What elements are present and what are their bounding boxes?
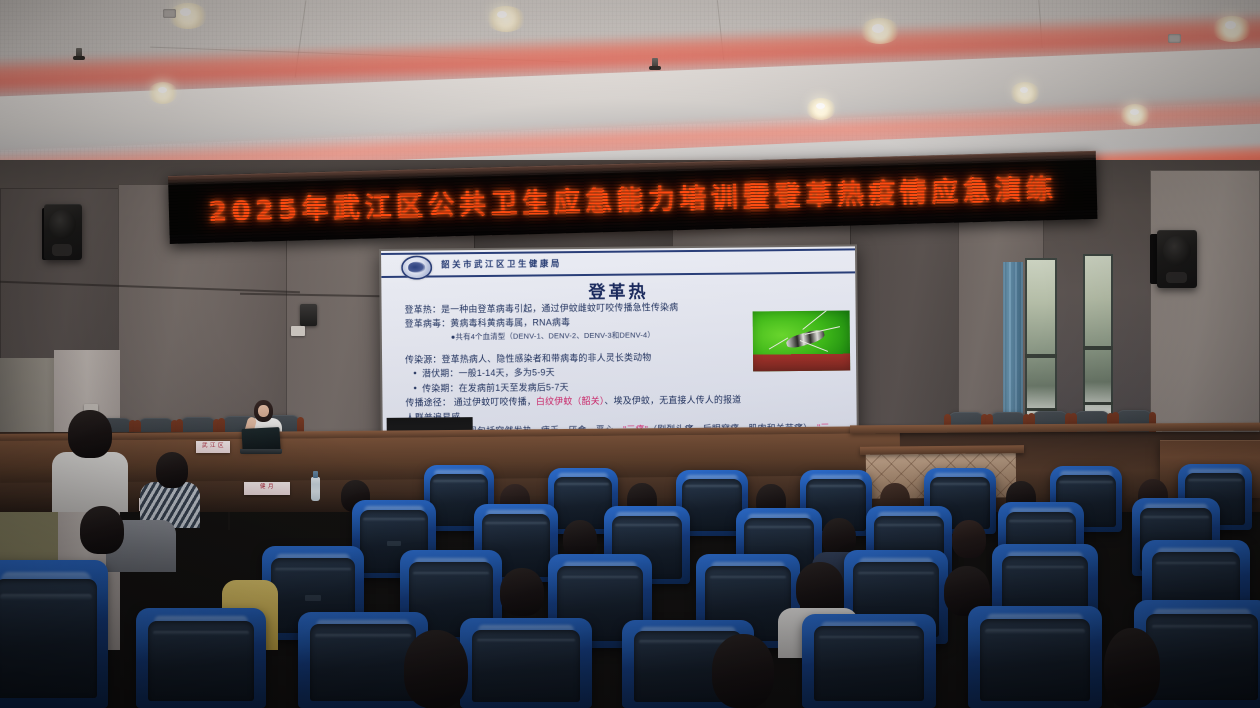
water-bottle [311,477,320,501]
audience-head [156,452,188,488]
seat[interactable] [460,618,592,708]
ceiling-spotlight-core [180,8,191,16]
seat-number-tag [305,595,321,602]
seat-band [363,518,425,521]
slide-org-header: 韶关市武江区卫生健康局 [441,257,562,270]
audience-head [952,520,986,558]
wall-speaker-left [44,204,82,260]
wall-socket-plate [291,326,305,336]
seat-band [562,576,639,580]
podium-lip-right [860,445,1024,455]
seat-band [985,629,1084,633]
seat-band [1152,625,1253,629]
ceiling-spotlight [148,82,178,104]
seat-band [1156,562,1236,566]
seat-band [413,572,488,576]
ceiling-spotlight-core [872,24,884,33]
seat-band [1188,479,1243,482]
window-mullion [1025,354,1057,358]
seat[interactable] [136,608,266,708]
ceiling-spotlight [1212,16,1252,42]
seat-band [0,594,92,600]
route-label: 传播途径： 通过伊蚊叮咬传播， [405,397,536,408]
led-banner-text: 2025年武江区公共卫生应急能力培训暨登革热疫情应急演练 [208,166,1058,228]
seat-band [315,634,411,638]
ceiling-vent [1168,34,1181,43]
seat-band [933,483,986,486]
ceiling-spotlight-core [1130,109,1139,115]
seat-band [615,524,679,527]
route-tail: 、埃及伊蚊，无直接人传人的报道 [604,395,741,406]
seat-band [710,576,787,580]
seat-band [557,483,609,486]
wall-control-box[interactable] [300,304,317,326]
seat-band [1143,516,1208,519]
audience-head [563,520,597,558]
seat-band [858,572,935,576]
presenter-laptop-base[interactable] [240,449,282,454]
route-highlight: 白纹伊蚊（韶关） [536,396,605,407]
seat-band [433,480,485,483]
seat-band [485,522,547,525]
sprinkler-head [76,48,82,59]
audience-head [796,562,844,614]
wall-speaker-right [1157,230,1197,288]
seat[interactable] [968,606,1102,708]
seat-band [685,485,738,488]
audience-shoulders [52,452,128,512]
ceiling-spotlight [806,98,836,120]
ceiling-spotlight-core [158,87,167,93]
seat-band [1059,481,1112,484]
window-mullion [1083,402,1113,405]
name-plate-text-2: 健 月 [260,484,274,490]
seat[interactable] [0,560,108,708]
ceiling-spotlight [1010,82,1040,104]
seat[interactable] [802,614,936,708]
sprinkler-head [652,58,658,69]
ceiling-spotlight-core [497,11,507,18]
name-plate-front: 健 月 [244,482,290,495]
audience-head-foreground [404,630,468,708]
presenter-laptop-screen[interactable] [241,427,280,451]
ceiling-spotlight [1120,104,1150,126]
name-plate-text: 武 江 区 [202,443,224,449]
audience-head [500,568,544,616]
name-plate-left: 武 江 区 [196,441,230,453]
window-mullion [1083,346,1113,350]
seat-number-tag [387,541,400,546]
audience-head [80,506,124,554]
seat-band [275,568,350,572]
ceiling-spotlight-core [1225,21,1236,29]
presenter-face [258,405,269,417]
seat-band [477,639,575,643]
ceiling-vent [163,9,176,18]
audience-head [68,410,112,458]
seat-band [819,636,918,640]
seat-band [809,485,862,488]
seat-band [1006,566,1084,570]
seat-band [1009,520,1073,523]
seat-band [153,631,249,635]
seat-band [747,526,811,529]
slide-header-rule-top [381,248,855,254]
conference-hall-scene: 2025年武江区公共卫生应急能力培训暨登革热疫情应急演练 韶关市武江区卫生健康局… [0,0,1260,708]
ceiling [0,0,1260,176]
audience-head-foreground [712,634,774,708]
ceiling-spotlight-core [1020,87,1028,93]
ceiling-spotlight-core [816,103,825,109]
ceiling-spotlight [486,6,526,32]
audience-head-foreground [1104,628,1160,708]
seat-band [877,524,941,527]
